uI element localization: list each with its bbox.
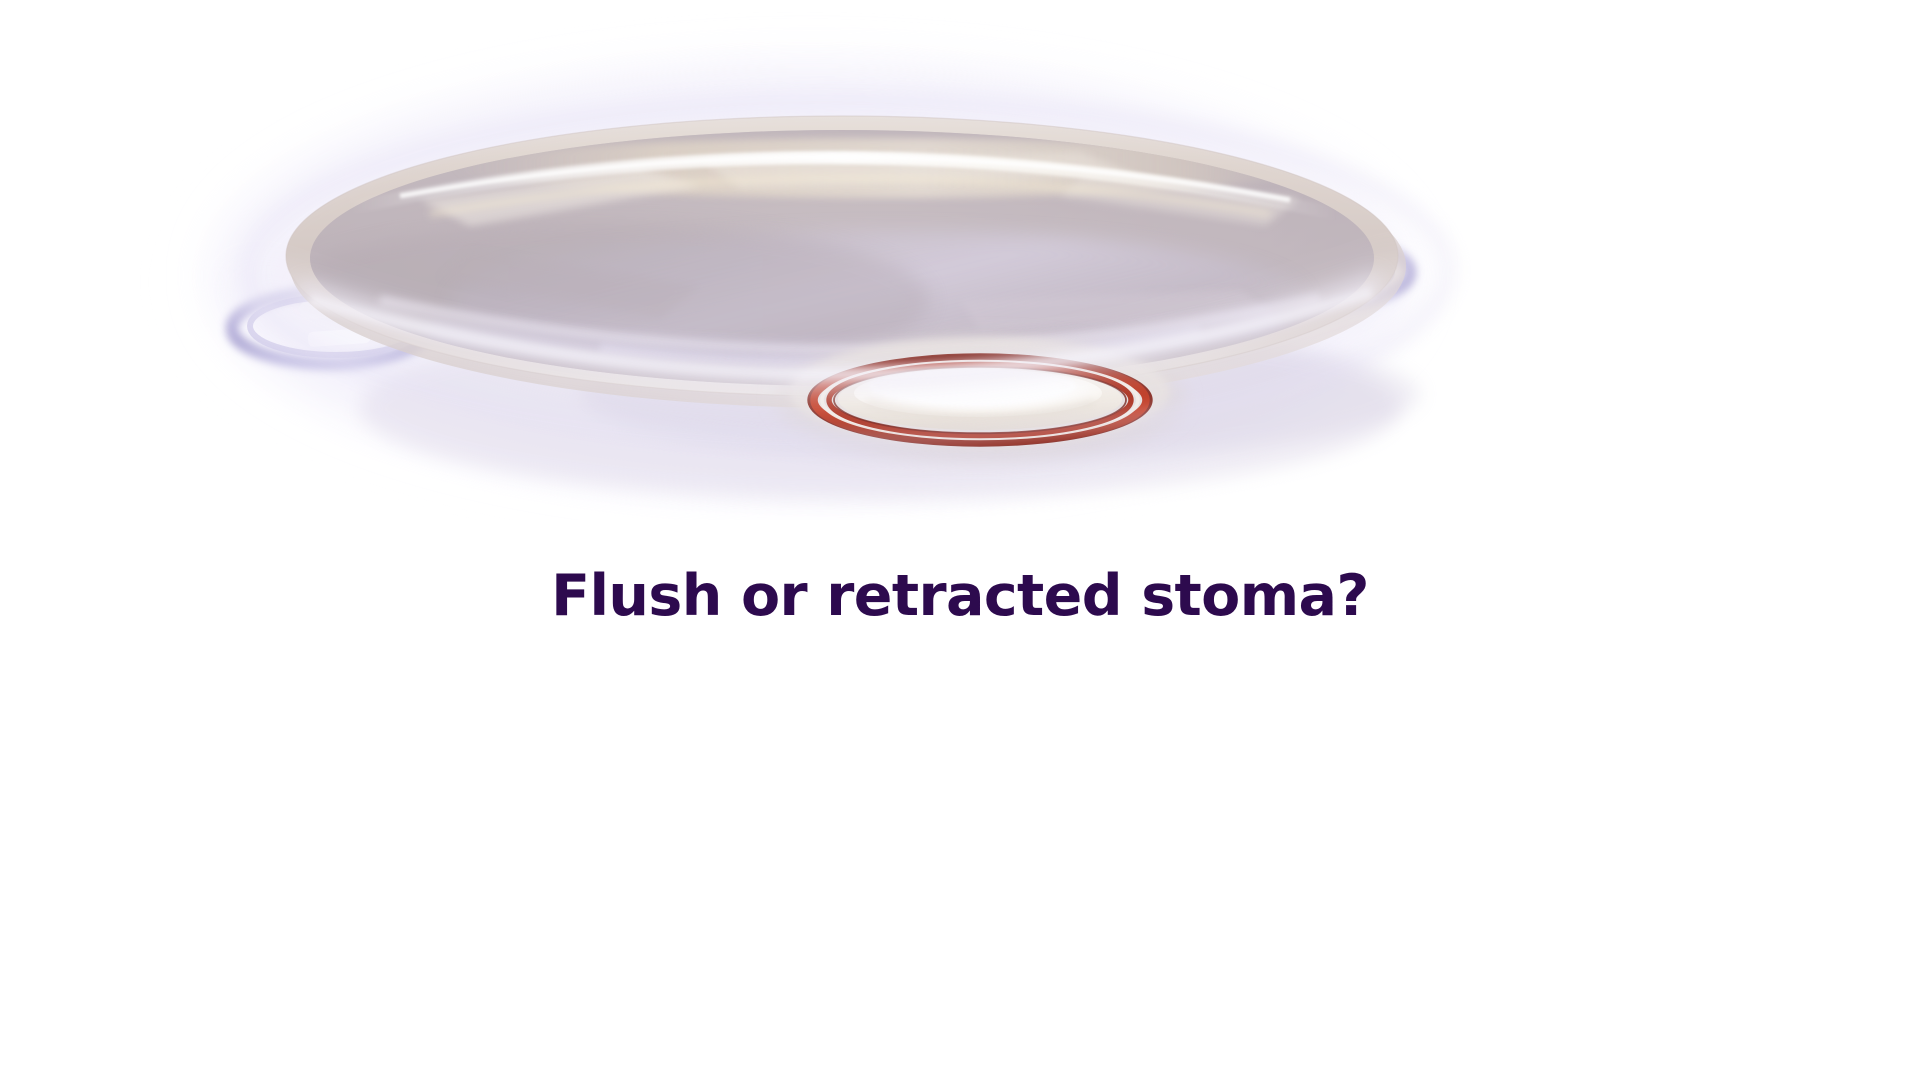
caption-block: Flush or retracted stoma? bbox=[0, 521, 1920, 671]
ostomy-barrier-svg bbox=[0, 0, 1920, 520]
ostomy-barrier-illustration bbox=[0, 0, 1920, 520]
page-root: Flush or retracted stoma? bbox=[0, 0, 1920, 1080]
page-title: Flush or retracted stoma? bbox=[551, 559, 1369, 633]
